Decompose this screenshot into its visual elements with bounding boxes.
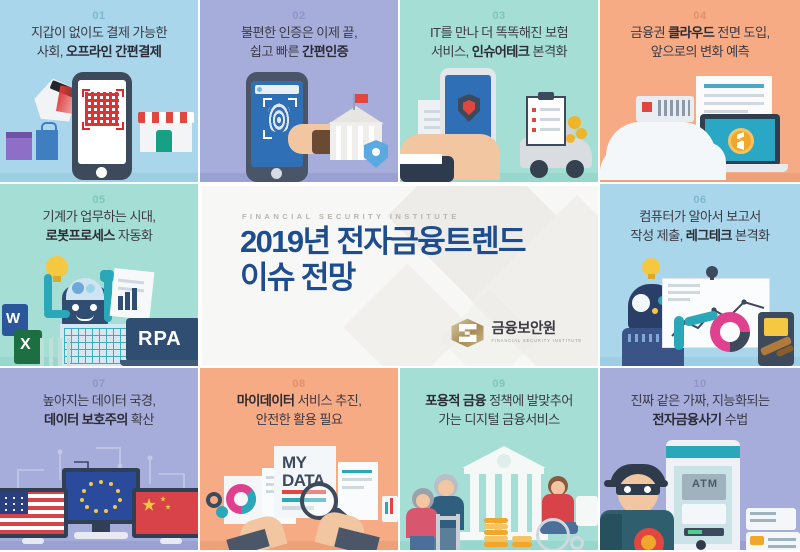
card-06: 06 컴퓨터가 알아서 보고서 작성 제출, 레그테크 본격화 — [600, 184, 800, 368]
card-05: 05 기계가 업무하는 시대, 로봇프로세스 자동화 — [0, 184, 200, 368]
caption-line2-bold: 데이터 보호주의 — [44, 412, 128, 427]
card-10: 10 진짜 같은 가짜, 지능화되는 전자금융사기 수법 ATM — [600, 368, 800, 552]
infographic-poster: 01 지갑이 없이도 결제 가능한 사회, 오프라인 간편결제 — [0, 0, 800, 552]
fsi-logo-mark-icon — [451, 318, 485, 348]
card-number: 08 — [200, 378, 398, 390]
caption-line1-bold: 클라우드 — [668, 25, 714, 40]
caption-line1: 높아지는 데이터 국경, — [43, 393, 156, 408]
fsi-logo: 금융보안원 FINANCIAL SECURITY INSTITUTE — [451, 318, 582, 348]
card-caption: 포용적 금융 정책에 발맞추어 가는 디지털 금융서비스 — [406, 392, 592, 429]
hero-title-block: FINANCIAL SECURITY INSTITUTE 2019년 전자금융트… — [200, 184, 600, 368]
caption-line2-bold: 레그테크 — [686, 228, 732, 243]
card-01: 01 지갑이 없이도 결제 가능한 사회, 오프라인 간편결제 — [0, 0, 200, 184]
caption-line1-bold: 포용적 금융 — [425, 393, 486, 408]
caption-line1: 불편한 인증은 이제 끝, — [241, 25, 357, 40]
hero-kicker: FINANCIAL SECURITY INSTITUTE — [242, 212, 460, 221]
caption-line2: 안전한 활용 필요 — [256, 412, 343, 427]
hero-title-line1: 2019년 전자금융트렌드 — [240, 224, 570, 260]
card-caption: IT를 만나 더 똑똑해진 보험 서비스, 인슈어테크 본격화 — [406, 24, 592, 61]
caption-line1-tail: 전면 도입, — [714, 25, 769, 40]
card-09: 09 포용적 금융 정책에 발맞추어 가는 디지털 금융서비스 — [400, 368, 600, 552]
hero-title-line2: 이슈 전망 — [240, 260, 570, 296]
fsi-logo-text: 금융보안원 FINANCIAL SECURITY INSTITUTE — [492, 322, 582, 344]
illustration-data-borders — [0, 440, 198, 550]
fsi-logo-en: FINANCIAL SECURITY INSTITUTE — [492, 339, 582, 343]
caption-line1: 진짜 같은 가짜, 지능화되는 — [630, 393, 769, 408]
caption-line2-bold: 로봇프로세스 — [46, 228, 115, 243]
caption-line2-plain: 쉽고 빠른 — [250, 44, 302, 59]
mydata-label: MY DATA — [282, 454, 330, 480]
caption-line2-bold: 간편인증 — [302, 44, 348, 59]
caption-line1-tail: 서비스 추진, — [294, 393, 361, 408]
fsi-logo-name: 금융보안원 — [492, 322, 582, 337]
caption-line2-plain: 서비스, — [431, 44, 472, 59]
illustration-regtech — [600, 256, 800, 366]
hero-title: 2019년 전자금융트렌드 이슈 전망 — [240, 224, 570, 297]
card-number: 10 — [600, 378, 800, 390]
caption-line2: 앞으로의 변화 예측 — [651, 44, 749, 59]
caption-line1: IT를 만나 더 똑똑해진 보험 — [430, 25, 568, 40]
card-caption: 금융권 클라우드 전면 도입, 앞으로의 변화 예측 — [606, 24, 794, 61]
illustration-qr-payment — [0, 72, 198, 182]
caption-line2-plain: 작성 제출, — [630, 228, 685, 243]
caption-line1-bold: 마이데이터 — [237, 393, 295, 408]
caption-line2-bold: 오프라인 간편결제 — [66, 44, 161, 59]
caption-line2-tail: 본격화 — [732, 228, 770, 243]
card-caption: 마이데이터 서비스 추진, 안전한 활용 필요 — [206, 392, 392, 429]
card-caption: 높아지는 데이터 국경, 데이터 보호주의 확산 — [6, 392, 192, 429]
illustration-inclusive-finance — [400, 440, 598, 550]
caption-line1: 지갑이 없이도 결제 가능한 — [31, 25, 167, 40]
card-number: 04 — [600, 10, 800, 22]
caption-line1-plain: 금융권 — [630, 25, 668, 40]
card-caption: 지갑이 없이도 결제 가능한 사회, 오프라인 간편결제 — [6, 24, 192, 61]
card-number: 05 — [0, 194, 198, 206]
card-number: 07 — [0, 378, 198, 390]
illustration-mydata-desk: MY DATA — [200, 440, 398, 550]
caption-line2: 가는 디지털 금융서비스 — [438, 412, 559, 427]
card-08: 08 마이데이터 서비스 추진, 안전한 활용 필요 MY DATA — [200, 368, 400, 552]
caption-line2-plain: 사회, — [37, 44, 66, 59]
card-caption: 기계가 업무하는 시대, 로봇프로세스 자동화 — [6, 208, 192, 245]
card-04: 04 금융권 클라우드 전면 도입, 앞으로의 변화 예측 — [600, 0, 800, 184]
atm-label: ATM — [692, 478, 718, 490]
card-caption: 컴퓨터가 알아서 보고서 작성 제출, 레그테크 본격화 — [606, 208, 794, 245]
caption-line1: 기계가 업무하는 시대, — [43, 209, 156, 224]
card-number: 03 — [400, 10, 598, 22]
caption-line2-tail: 확산 — [128, 412, 154, 427]
eu-flag-icon — [66, 472, 136, 520]
illustration-insurtech — [400, 72, 598, 182]
card-caption: 불편한 인증은 이제 끝, 쉽고 빠른 간편인증 — [206, 24, 392, 61]
caption-line2-tail: 수법 — [722, 412, 748, 427]
card-03: 03 IT를 만나 더 똑똑해진 보험 서비스, 인슈어테크 본격화 — [400, 0, 600, 184]
caption-line2-tail: 자동화 — [115, 228, 153, 243]
illustration-cloud-server — [600, 72, 800, 182]
card-number: 01 — [0, 10, 198, 22]
caption-line1: 컴퓨터가 알아서 보고서 — [639, 209, 760, 224]
card-02: 02 불편한 인증은 이제 끝, 쉽고 빠른 간편인증 — [200, 0, 400, 184]
card-number: 02 — [200, 10, 398, 22]
caption-line2-bold: 인슈어테크 — [472, 44, 530, 59]
caption-line2-tail: 본격화 — [529, 44, 567, 59]
illustration-atm-fraud: ATM — [600, 440, 800, 550]
caption-line1-tail: 정책에 발맞추어 — [486, 393, 573, 408]
illustration-rpa-robot: RPA W X — [0, 256, 198, 366]
card-number: 09 — [400, 378, 598, 390]
caption-line2-bold: 전자금융사기 — [652, 412, 721, 427]
card-number: 06 — [600, 194, 800, 206]
card-caption: 진짜 같은 가짜, 지능화되는 전자금융사기 수법 — [606, 392, 794, 429]
illustration-fingerprint-auth — [200, 72, 398, 182]
card-07: 07 높아지는 데이터 국경, 데이터 보호주의 확산 — [0, 368, 200, 552]
